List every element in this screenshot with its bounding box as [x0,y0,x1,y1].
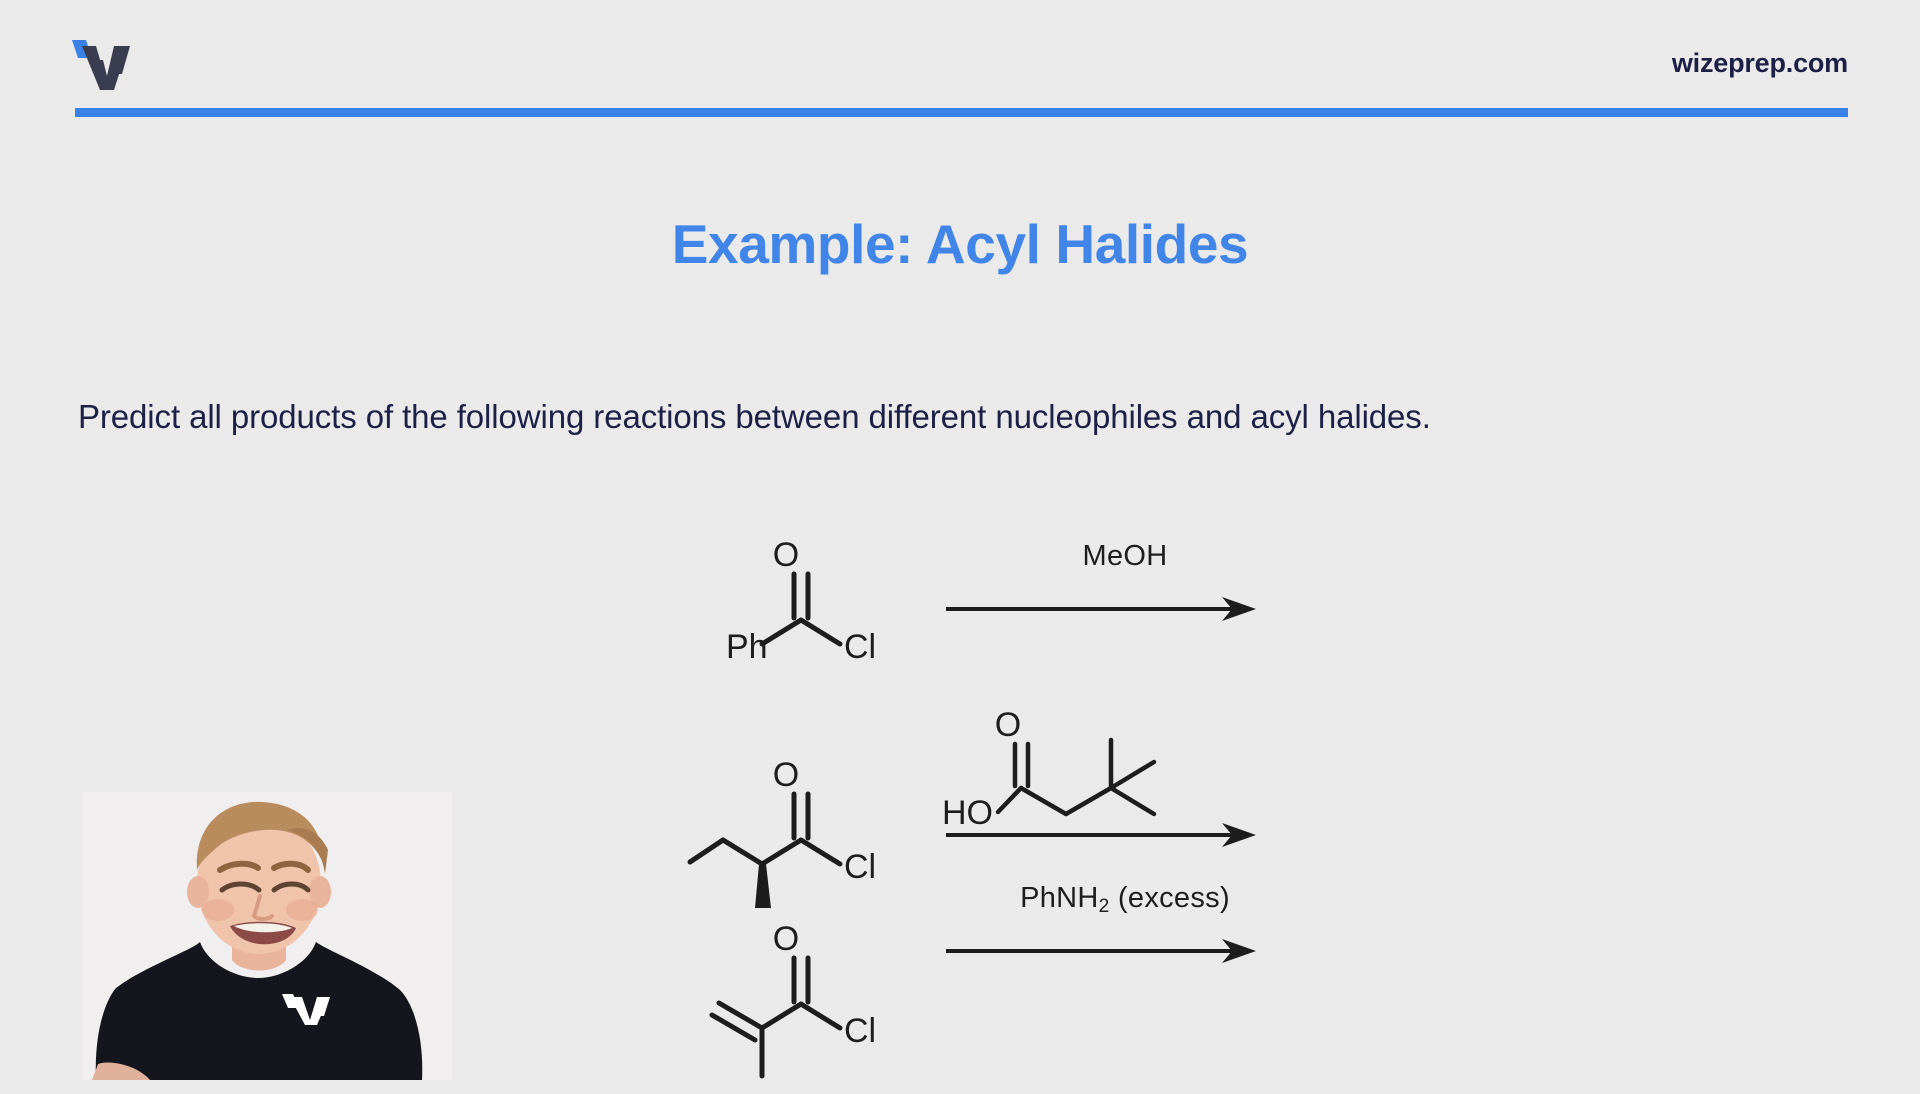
structure-benzoyl-chloride: O Ph Cl [690,530,940,710]
reagent-label-meoh: MeOH [940,540,1310,573]
structure-methacryloyl-chloride: O Cl [690,914,940,1094]
reagent-label-main: PhNH [1020,882,1099,914]
wizeprep-w-logo-icon [280,990,336,1026]
reagent-label-aniline: PhNH2 (excess) [940,882,1310,915]
reaction-arrow [940,934,1310,968]
slide-canvas: wizeprep.com Example: Acyl Halides Predi… [0,0,1920,1080]
wizeprep-w-logo-icon [70,36,136,92]
presenter-video [82,792,452,1080]
reaction-row: O Cl [690,708,1310,888]
atom-label-oxygen: O [773,536,799,574]
presenter-figure [82,792,452,1080]
reagent-side: MeOH [940,530,1310,710]
reagent-side: PhNH2 (excess) [940,872,1310,1052]
reaction-arrow [940,818,1310,852]
page-title: Example: Acyl Halides [0,212,1920,276]
atom-label-chlorine: Cl [844,1012,876,1050]
reaction-board: O Ph Cl MeOH [690,530,1310,1090]
prompt-text: Predict all products of the following re… [78,396,1838,439]
reagent-label-tail: (excess) [1110,882,1230,914]
reagent-label-subscript: 2 [1099,896,1110,917]
brand-site-label: wizeprep.com [1672,48,1848,79]
atom-label-chlorine: Cl [844,628,876,666]
reagent-side: O HO [940,708,1310,888]
atom-label-oxygen: O [995,706,1021,744]
atom-label-oxygen: O [773,920,799,958]
header-divider-rule [75,108,1848,117]
atom-label-phenyl: Ph [726,628,768,666]
slide-header: wizeprep.com [0,0,1920,130]
reaction-row: O Ph Cl MeOH [690,530,1310,710]
reaction-row: O Cl PhNH2 (excess) [690,872,1310,1052]
reaction-arrow [940,592,1310,626]
atom-label-oxygen: O [773,756,799,794]
